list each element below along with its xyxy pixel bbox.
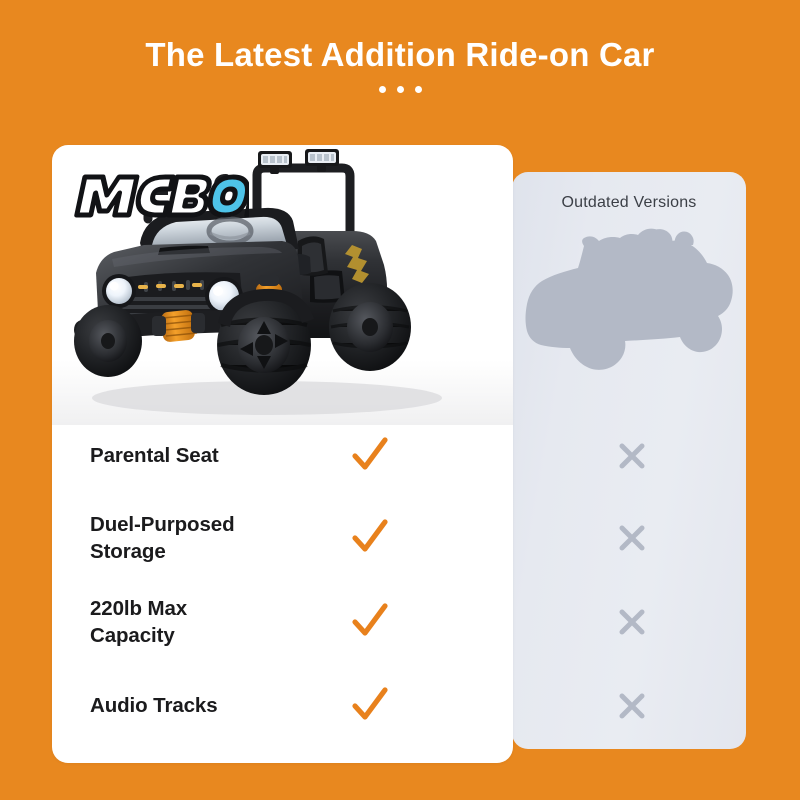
brand-logo — [69, 167, 249, 225]
feature-label: 220lb Max Capacity — [90, 595, 340, 649]
feature-row: 220lb Max Capacity — [0, 584, 800, 660]
feature-comparison-rows: Parental Seat Duel-Purposed Storage 220l… — [0, 278, 800, 748]
separator-dot — [415, 86, 422, 93]
separator-dot — [379, 86, 386, 93]
dot-separator — [379, 86, 422, 93]
check-icon — [350, 602, 390, 642]
cross-icon — [614, 688, 650, 724]
cross-icon — [614, 604, 650, 640]
feature-label: Duel-Purposed Storage — [90, 511, 340, 565]
feature-label: Audio Tracks — [90, 692, 340, 719]
check-icon — [350, 518, 390, 558]
feature-label: Parental Seat — [90, 442, 340, 469]
cross-icon — [614, 438, 650, 474]
outdated-versions-title: Outdated Versions — [512, 194, 746, 212]
separator-dot — [397, 86, 404, 93]
feature-row: Duel-Purposed Storage — [0, 500, 800, 576]
page-header: The Latest Addition Ride-on Car — [0, 0, 800, 145]
check-icon — [350, 686, 390, 726]
cross-icon — [614, 520, 650, 556]
check-icon — [350, 436, 390, 476]
feature-row: Audio Tracks — [0, 668, 800, 744]
feature-row: Parental Seat — [0, 418, 800, 494]
page-title: The Latest Addition Ride-on Car — [145, 36, 654, 74]
